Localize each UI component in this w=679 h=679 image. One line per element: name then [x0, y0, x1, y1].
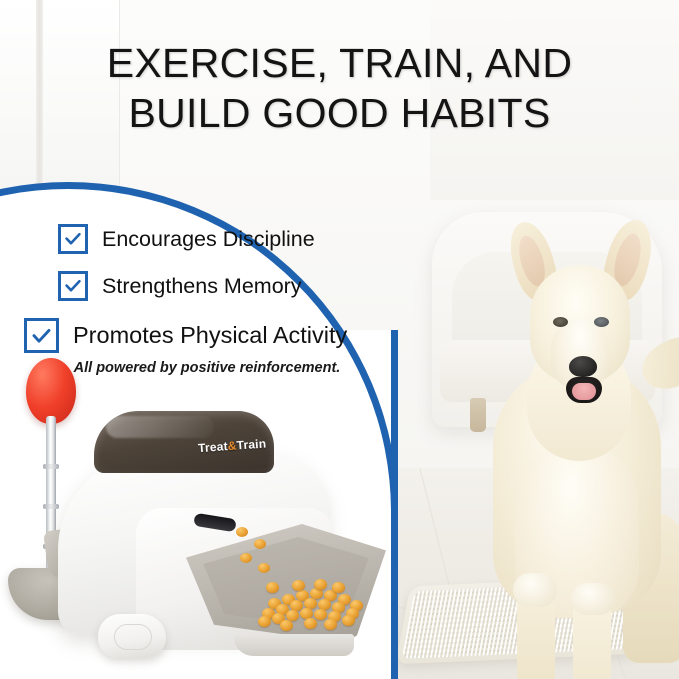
- checklist-item-label: Strengthens Memory: [102, 274, 302, 299]
- benefits-checklist: Encourages Discipline Strengthens Memory…: [0, 224, 392, 370]
- dog-eye-left: [553, 317, 568, 327]
- checklist-item[interactable]: Strengthens Memory: [0, 271, 392, 301]
- dog-eye-right: [594, 317, 609, 327]
- headline-line-2: BUILD GOOD HABITS: [0, 88, 679, 138]
- hopper-highlight: [106, 416, 214, 438]
- checklist-item[interactable]: Encourages Discipline: [0, 224, 392, 254]
- dog-tongue: [572, 383, 596, 400]
- brand-text-right: Train: [236, 436, 267, 452]
- ad-banner: EXERCISE, TRAIN, AND BUILD GOOD HABITS E…: [0, 0, 679, 679]
- headline-line-1: EXERCISE, TRAIN, AND: [107, 40, 572, 86]
- treat-pile: [252, 568, 370, 626]
- remote-button[interactable]: [98, 614, 166, 658]
- dog-paw-left: [513, 573, 557, 607]
- dog-tail: [634, 330, 679, 399]
- dog-nose: [569, 356, 597, 377]
- checkbox-checked-icon[interactable]: [24, 318, 59, 353]
- pole-joint: [43, 504, 59, 509]
- checklist-item-label: Encourages Discipline: [102, 227, 315, 252]
- pole-joint: [43, 464, 59, 469]
- treat-dispenser: Treat&Train: [58, 408, 388, 670]
- checkbox-checked-icon[interactable]: [58, 271, 88, 301]
- brand-text-left: Treat: [198, 439, 229, 455]
- falling-treat: [240, 553, 252, 563]
- dog: [455, 213, 679, 679]
- checklist-item-label: Promotes Physical Activity: [73, 322, 347, 349]
- falling-treat: [254, 539, 266, 549]
- falling-treat: [236, 527, 248, 537]
- dog-paw-right: [571, 583, 615, 615]
- headline: EXERCISE, TRAIN, AND BUILD GOOD HABITS: [0, 38, 679, 138]
- checklist-item[interactable]: Promotes Physical Activity: [0, 318, 392, 353]
- dispenser-foot: [234, 634, 354, 656]
- checkbox-checked-icon[interactable]: [58, 224, 88, 254]
